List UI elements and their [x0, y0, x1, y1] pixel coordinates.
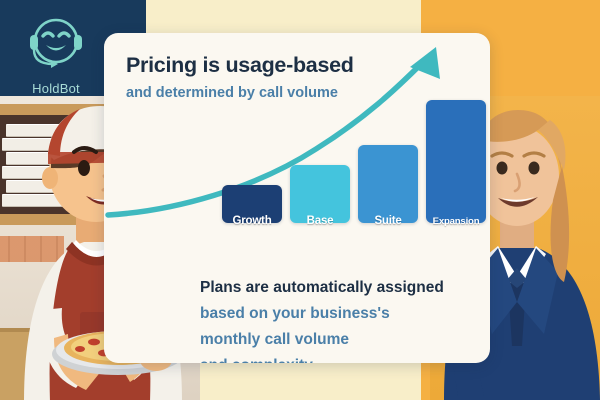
body-line-1: Plans are automatically assigned — [200, 275, 490, 301]
card-body-copy: Plans are automatically assigned based o… — [200, 275, 490, 363]
content-card: Growth Base Suite Expansion Pricing is u… — [104, 33, 490, 363]
body-line-2: based on your business's — [200, 301, 490, 327]
slide-canvas: Growth Base Suite Expansion Pricing is u… — [0, 0, 600, 400]
chart-bar-label-growth: Growth — [222, 215, 282, 227]
chart-bar-label-base: Base — [290, 215, 350, 227]
headset-smiley-icon — [25, 12, 87, 74]
chart-bar-label-expansion: Expansion — [426, 216, 486, 227]
body-line-3: monthly call volume — [200, 327, 490, 353]
brand-logo: HoldBot — [14, 12, 98, 96]
chart-bar-label-suite: Suite — [358, 215, 418, 227]
card-headline: Pricing is usage-based — [126, 53, 354, 78]
chart-bar-suite — [358, 145, 418, 223]
brand-name: HoldBot — [14, 81, 98, 96]
chart-bar-expansion — [426, 100, 486, 223]
body-line-4: and complexity. — [200, 353, 490, 363]
card-subheadline: and determined by call volume — [126, 85, 338, 101]
